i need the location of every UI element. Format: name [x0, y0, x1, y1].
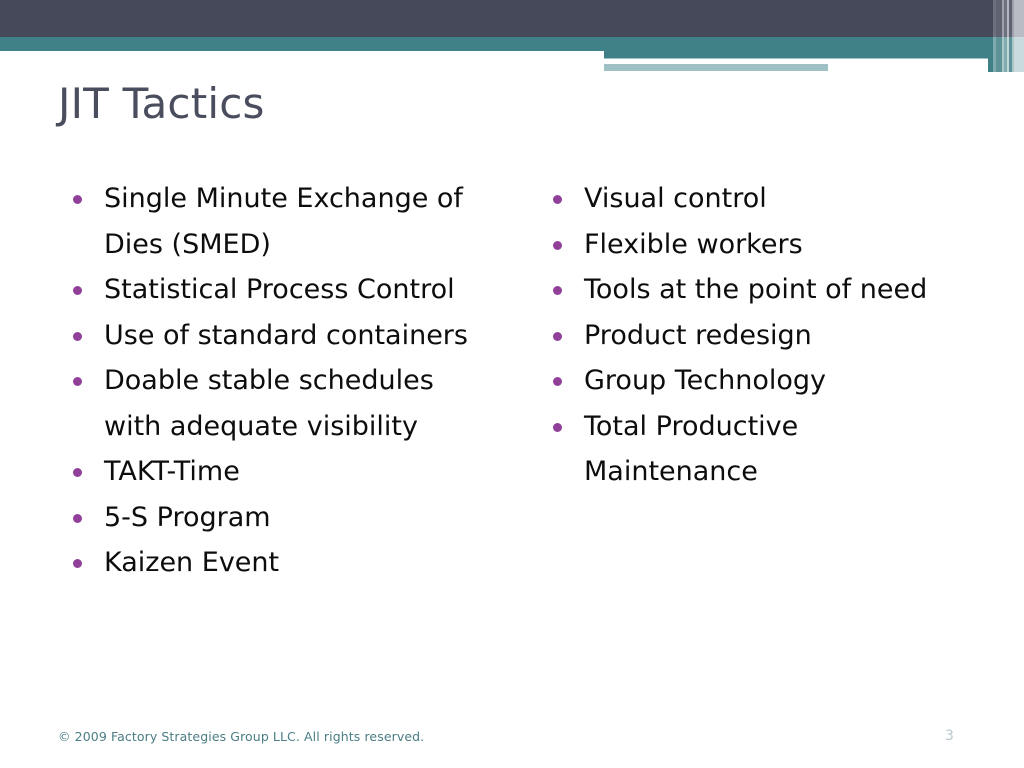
- bullet-item-label: Use of standard containers: [104, 320, 468, 351]
- header-dark-band: [0, 0, 1024, 37]
- bullet-dot-icon: [73, 195, 82, 204]
- bullet-item-label: Kaizen Event: [104, 547, 279, 578]
- bullet-dot-icon: [73, 559, 82, 568]
- bullet-item: Kaizen Event: [64, 540, 496, 586]
- header-vertical-stripes: [988, 0, 1024, 72]
- bullet-dot-icon: [553, 286, 562, 295]
- bullet-item-label: 5-S Program: [104, 502, 271, 533]
- page-number: 3: [945, 728, 985, 744]
- bullet-item: Total Productive Maintenance: [544, 404, 944, 495]
- bullet-item-label: Total Productive Maintenance: [584, 411, 798, 488]
- bullet-item-label: Tools at the point of need: [584, 274, 927, 305]
- bullet-item-label: TAKT-Time: [104, 456, 240, 487]
- bullet-column-left: Single Minute Exchange of Dies (SMED)Sta…: [64, 176, 496, 586]
- bullet-dot-icon: [73, 468, 82, 477]
- page-title: JIT Tactics: [58, 78, 918, 130]
- bullet-item-label: Single Minute Exchange of Dies (SMED): [104, 183, 463, 260]
- bullet-item: Single Minute Exchange of Dies (SMED): [64, 176, 496, 267]
- slide-canvas: JIT Tactics Single Minute Exchange of Di…: [0, 0, 1024, 768]
- bullet-item-label: Flexible workers: [584, 229, 803, 260]
- copyright-notice: © 2009 Factory Strategies Group LLC. All…: [58, 729, 424, 744]
- bullet-item: Visual control: [544, 176, 944, 222]
- bullet-item: Flexible workers: [544, 222, 944, 268]
- bullet-dot-icon: [553, 377, 562, 386]
- bullet-item: Product redesign: [544, 313, 944, 359]
- bullet-item: Statistical Process Control: [64, 267, 496, 313]
- bullet-dot-icon: [553, 332, 562, 341]
- header-white-gap-3: [604, 71, 1024, 75]
- bullet-dot-icon: [553, 241, 562, 250]
- header-teal-bar-right: [604, 51, 1024, 58]
- bullet-item: Use of standard containers: [64, 313, 496, 359]
- bullet-item: Doable stable schedules with adequate vi…: [64, 358, 496, 449]
- bullet-item: TAKT-Time: [64, 449, 496, 495]
- bullet-dot-icon: [553, 195, 562, 204]
- bullet-list-right: Visual controlFlexible workersTools at t…: [544, 176, 944, 495]
- bullet-dot-icon: [73, 286, 82, 295]
- bullet-item-label: Visual control: [584, 183, 767, 214]
- bullet-column-right: Visual controlFlexible workersTools at t…: [544, 176, 944, 495]
- header-decoration: [0, 0, 1024, 80]
- bullet-item: Group Technology: [544, 358, 944, 404]
- bullet-item-label: Doable stable schedules with adequate vi…: [104, 365, 434, 442]
- vertical-stripe: [1014, 0, 1024, 37]
- vertical-stripe-lower: [1014, 37, 1024, 72]
- bullet-dot-icon: [73, 377, 82, 386]
- bullet-item-label: Product redesign: [584, 320, 812, 351]
- bullet-dot-icon: [73, 332, 82, 341]
- bullet-dot-icon: [73, 514, 82, 523]
- header-teal-band: [0, 37, 1024, 51]
- bullet-item-label: Group Technology: [584, 365, 826, 396]
- bullet-dot-icon: [553, 423, 562, 432]
- bullet-item-label: Statistical Process Control: [104, 274, 455, 305]
- bullet-item: Tools at the point of need: [544, 267, 944, 313]
- bullet-item: 5-S Program: [64, 495, 496, 541]
- bullet-list-left: Single Minute Exchange of Dies (SMED)Sta…: [64, 176, 496, 586]
